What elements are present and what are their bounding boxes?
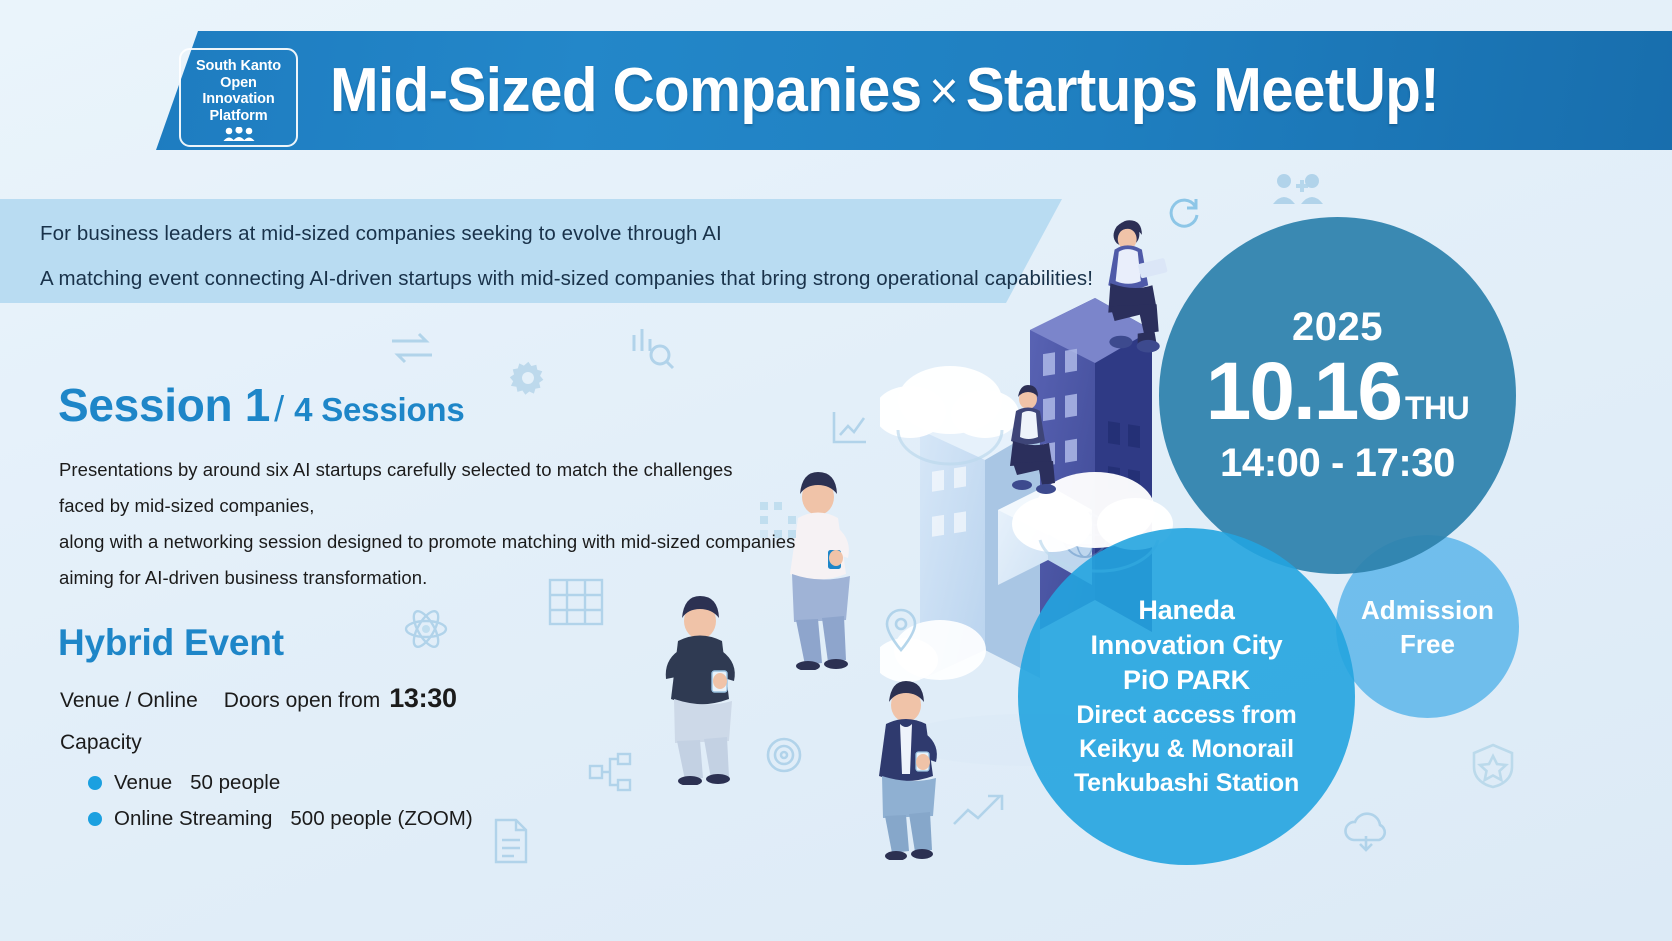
spiral-icon: [764, 735, 804, 775]
description-line-1: Presentations by around six AI startups …: [59, 452, 819, 488]
event-date-circle: 2025 10.16 THU 14:00 - 17:30: [1159, 217, 1516, 574]
venue-line-6: Tenkubashi Station: [1074, 766, 1299, 800]
event-day-of-week: THU: [1401, 392, 1469, 424]
network-nodes-icon: [588, 752, 634, 792]
venue-line-1: Haneda: [1138, 593, 1234, 628]
venue-line-2: Innovation City: [1091, 628, 1283, 663]
session-heading-slash: /: [270, 388, 288, 429]
admission-line-2: Free: [1400, 627, 1455, 661]
session-heading: Session 1/4 Sessions: [58, 378, 465, 432]
doors-open-time: 13:30: [380, 683, 457, 714]
session-description: Presentations by around six AI startups …: [59, 452, 819, 596]
list-item: Venue 50 people: [88, 765, 473, 801]
org-logo-badge: South Kanto Open Innovation Platform: [179, 48, 298, 147]
hybrid-event-heading: Hybrid Event: [58, 622, 284, 664]
document-icon: [492, 818, 530, 864]
event-date: 10.16: [1206, 351, 1401, 433]
logo-line-1: South Kanto: [196, 58, 281, 75]
description-line-3: along with a networking session designed…: [59, 524, 819, 560]
capacity-item-value: 50 people: [190, 771, 280, 795]
shield-icon: [1470, 742, 1516, 790]
title-times-symbol: ×: [922, 61, 966, 121]
logo-line-2: Open: [220, 75, 257, 92]
venue-online-line: Venue / Online Doors open from 13:30: [60, 683, 457, 714]
admission-line-1: Admission: [1361, 593, 1494, 627]
bullet-dot-icon: [88, 812, 102, 826]
event-date-row: 10.16 THU: [1206, 351, 1469, 433]
user-add-icon: [1272, 172, 1324, 206]
map-pin-icon: [884, 608, 918, 652]
title-part-2: Startups MeetUp!: [966, 56, 1439, 125]
subtitle-line-2: A matching event connecting AI-driven st…: [40, 267, 1093, 291]
doors-open-label: Doors open from: [224, 689, 380, 713]
venue-line-5: Keikyu & Monorail: [1079, 732, 1294, 766]
session-heading-main: Session 1: [58, 379, 270, 431]
venue-online-label: Venue / Online: [60, 689, 198, 713]
person-with-phone-2: [648, 595, 768, 785]
cloud-download-icon: [1340, 812, 1392, 856]
title-part-1: Mid-Sized Companies: [330, 56, 922, 125]
capacity-item-value: 500 people (ZOOM): [290, 807, 472, 831]
capacity-label: Capacity: [60, 731, 142, 755]
atom-icon: [402, 605, 450, 653]
capacity-item-label: Venue: [114, 771, 172, 795]
description-line-4: aiming for AI-driven business transforma…: [59, 560, 819, 596]
trend-up-icon: [952, 790, 1008, 828]
bar-chart-search-icon: [630, 325, 676, 371]
venue-line-3: PiO PARK: [1123, 663, 1250, 698]
subtitle-line-1: For business leaders at mid-sized compan…: [40, 222, 722, 246]
event-year: 2025: [1292, 305, 1383, 349]
session-heading-sub: 4 Sessions: [288, 391, 464, 428]
flyer-canvas: South Kanto Open Innovation Platform Mid…: [0, 0, 1672, 941]
bullet-dot-icon: [88, 776, 102, 790]
event-time: 14:00 - 17:30: [1220, 441, 1455, 486]
people-group-icon: [222, 127, 256, 146]
person-with-phone-3: [856, 680, 966, 860]
line-chart-icon: [828, 408, 870, 450]
venue-circle: Haneda Innovation City PiO PARK Direct a…: [1018, 528, 1355, 865]
capacity-list: Venue 50 people Online Streaming 500 peo…: [88, 765, 473, 837]
gear-icon: [508, 358, 548, 398]
page-title: Mid-Sized Companies×Startups MeetUp!: [330, 58, 1439, 124]
transfer-arrows-icon: [388, 330, 436, 366]
logo-line-3: Innovation: [202, 91, 274, 108]
refresh-icon: [1166, 196, 1200, 230]
logo-line-4: Platform: [209, 108, 267, 125]
description-line-2: faced by mid-sized companies,: [59, 488, 819, 524]
list-item: Online Streaming 500 people (ZOOM): [88, 801, 473, 837]
venue-line-4: Direct access from: [1076, 698, 1296, 732]
capacity-item-label: Online Streaming: [114, 807, 272, 831]
